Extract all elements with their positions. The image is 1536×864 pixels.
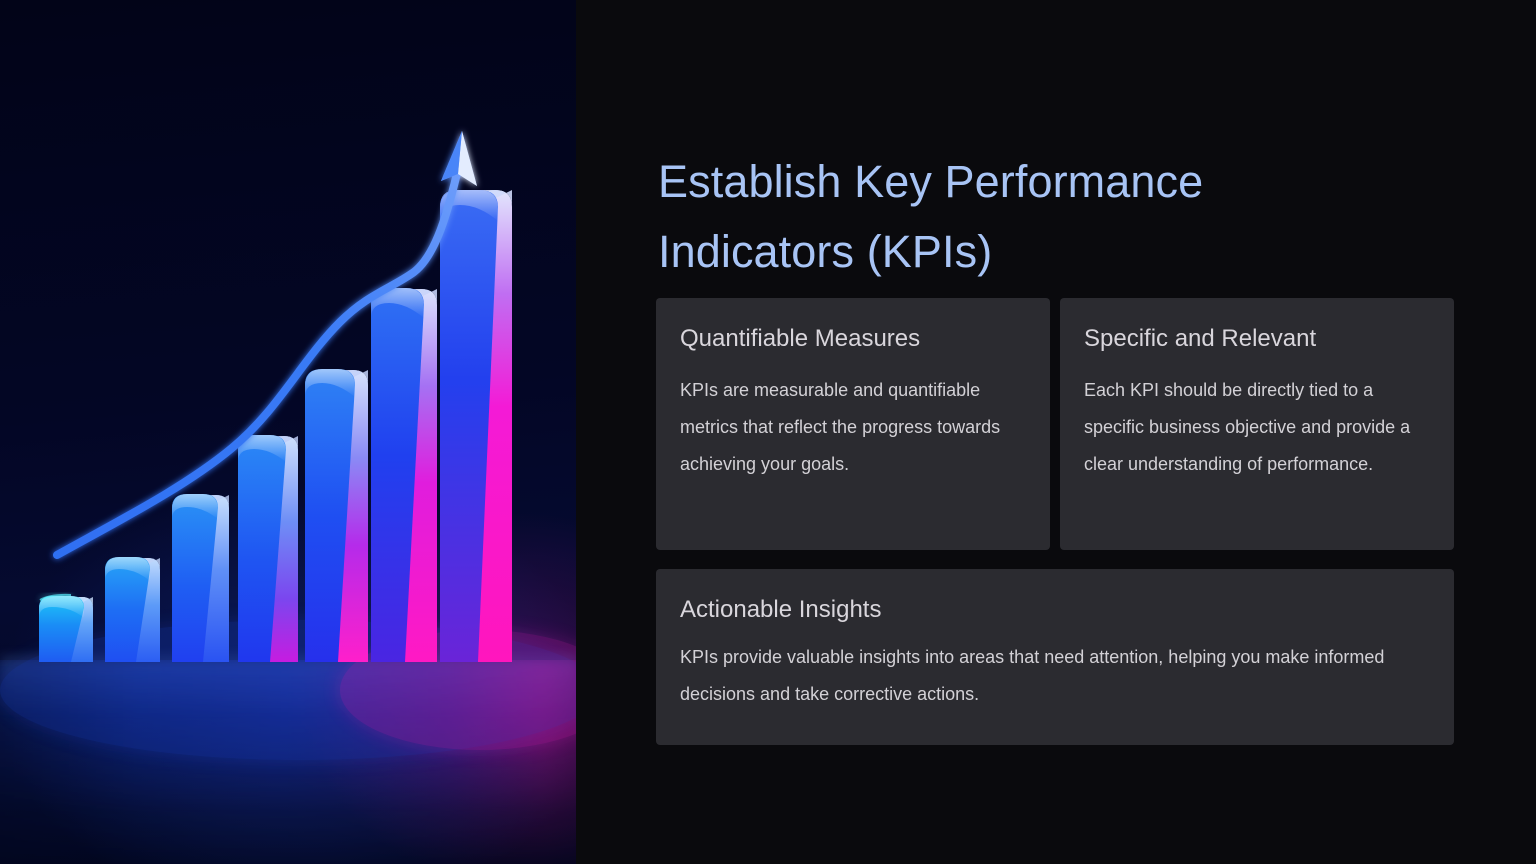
kpi-card-quantifiable-measures[interactable]: Quantifiable Measures KPIs are measurabl… xyxy=(656,298,1050,550)
kpi-card-body: Each KPI should be directly tied to a sp… xyxy=(1084,372,1430,483)
kpi-cards: Quantifiable Measures KPIs are measurabl… xyxy=(656,298,1454,745)
bar-6 xyxy=(371,288,437,662)
page-title: Establish Key Performance Indicators (KP… xyxy=(658,147,1458,287)
kpi-illustration-panel xyxy=(0,0,576,864)
kpi-card-specific-and-relevant[interactable]: Specific and Relevant Each KPI should be… xyxy=(1060,298,1454,550)
kpi-card-body: KPIs provide valuable insights into area… xyxy=(680,639,1430,713)
bar-1 xyxy=(39,595,93,662)
kpi-card-actionable-insights[interactable]: Actionable Insights KPIs provide valuabl… xyxy=(656,569,1454,745)
kpi-card-heading: Quantifiable Measures xyxy=(680,324,1026,354)
bar-2 xyxy=(105,557,160,662)
bar-5 xyxy=(305,369,368,662)
kpi-card-body: KPIs are measurable and quantifiable met… xyxy=(680,372,1026,483)
bar-4 xyxy=(238,435,298,662)
bar-7 xyxy=(440,190,512,662)
growth-bar-chart-icon xyxy=(0,0,576,864)
bar-3 xyxy=(172,494,229,662)
kpi-cards-top-row: Quantifiable Measures KPIs are measurabl… xyxy=(656,298,1454,550)
kpi-card-heading: Specific and Relevant xyxy=(1084,324,1430,354)
kpi-card-heading: Actionable Insights xyxy=(680,595,1430,625)
slide-root: Establish Key Performance Indicators (KP… xyxy=(0,0,1536,864)
content-panel: Establish Key Performance Indicators (KP… xyxy=(576,0,1536,864)
